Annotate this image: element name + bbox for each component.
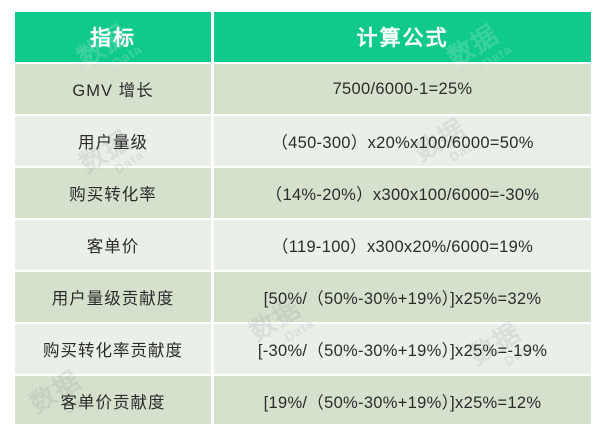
cell-metric: 购买转化率贡献度 — [15, 324, 211, 374]
table-row: 客单价贡献度 [19%/（50%-30%+19%）]x25%=12% — [15, 376, 591, 424]
cell-formula: （119-100）x300x20%/6000=19% — [214, 220, 591, 270]
table-row: 客单价 （119-100）x300x20%/6000=19% — [15, 220, 591, 270]
table-header: 指标 计算公式 — [15, 12, 591, 62]
cell-metric: 客单价贡献度 — [15, 376, 211, 424]
table-body: GMV 增长 7500/6000-1=25% 用户量级 （450-300）x20… — [15, 64, 591, 424]
column-header-formula: 计算公式 — [214, 12, 591, 62]
table-header-row: 指标 计算公式 — [15, 12, 591, 62]
cell-formula: 7500/6000-1=25% — [214, 64, 591, 114]
cell-metric: 用户量级贡献度 — [15, 272, 211, 322]
cell-metric: 客单价 — [15, 220, 211, 270]
table-row: 购买转化率 （14%-20%）x300x100/6000=-30% — [15, 168, 591, 218]
table-row: 用户量级贡献度 [50%/（50%-30%+19%）]x25%=32% — [15, 272, 591, 322]
table-row: GMV 增长 7500/6000-1=25% — [15, 64, 591, 114]
metric-formula-table: 指标 计算公式 GMV 增长 7500/6000-1=25% 用户量级 （450… — [12, 10, 594, 424]
cell-formula: [-30%/（50%-30%+19%）]x25%=-19% — [214, 324, 591, 374]
screenshot-canvas: 指标 计算公式 GMV 增长 7500/6000-1=25% 用户量级 （450… — [0, 0, 600, 424]
cell-metric: 用户量级 — [15, 116, 211, 166]
metric-formula-table-container: 指标 计算公式 GMV 增长 7500/6000-1=25% 用户量级 （450… — [12, 10, 588, 424]
table-row: 用户量级 （450-300）x20%x100/6000=50% — [15, 116, 591, 166]
cell-formula: （450-300）x20%x100/6000=50% — [214, 116, 591, 166]
cell-metric: GMV 增长 — [15, 64, 211, 114]
cell-formula: [50%/（50%-30%+19%）]x25%=32% — [214, 272, 591, 322]
cell-formula: （14%-20%）x300x100/6000=-30% — [214, 168, 591, 218]
table-row: 购买转化率贡献度 [-30%/（50%-30%+19%）]x25%=-19% — [15, 324, 591, 374]
column-header-metric: 指标 — [15, 12, 211, 62]
cell-metric: 购买转化率 — [15, 168, 211, 218]
cell-formula: [19%/（50%-30%+19%）]x25%=12% — [214, 376, 591, 424]
